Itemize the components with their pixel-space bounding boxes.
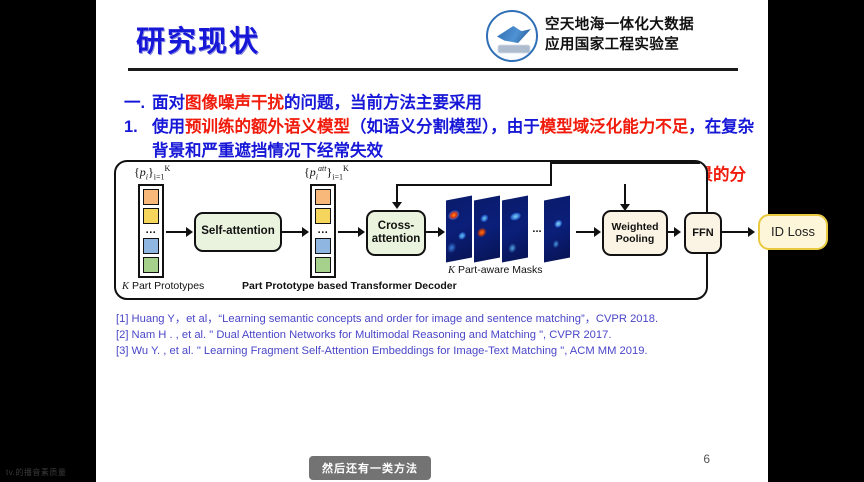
reference-list: [1] Huang Y，et al，“Learning semantic con… xyxy=(116,312,756,360)
bullet-run: 使用 xyxy=(152,118,185,136)
edge-feedback-to-crossattention xyxy=(396,184,552,186)
part-prototype-stack: ... xyxy=(138,184,164,278)
prototypes-caption-text: Part Prototypes xyxy=(132,280,204,292)
bullet-marker: 1. xyxy=(118,116,152,139)
mask-heatmap xyxy=(474,195,500,262)
bullet-run-emphasis: 预训练的额外语义模型 xyxy=(185,118,350,136)
screen-root: 研究现状 空天地海一体化大数据 应用国家工程实验室 一. 面对图像噪声干扰的问题… xyxy=(0,0,864,482)
prototype-chip-green xyxy=(315,257,331,273)
prototypes-caption: K Part Prototypes xyxy=(122,280,204,292)
masks-caption: K Part-aware Masks xyxy=(448,264,543,276)
node-self-attention-label: Self-attention xyxy=(201,225,274,238)
masks-caption-k: K xyxy=(448,265,455,276)
arrowhead xyxy=(674,227,681,237)
decoder-caption: Part Prototype based Transformer Decoder xyxy=(242,280,457,292)
reference-item: [1] Huang Y，et al，“Learning semantic con… xyxy=(116,312,756,328)
edge-attendedset-to-crossattention xyxy=(338,231,360,233)
arrowhead xyxy=(594,227,601,237)
mask-heatmap xyxy=(446,195,472,262)
institute-logo-line1: 空天地海一体化大数据 xyxy=(545,16,694,36)
bullet-run-emphasis: 模型域泛化能力不足 xyxy=(540,118,689,136)
bullet-text: 面对图像噪声干扰的问题，当前方法主要采用 xyxy=(152,92,758,115)
edge-feedback-source xyxy=(550,162,552,186)
page-number: 6 xyxy=(703,452,710,466)
prototype-chip-orange xyxy=(143,189,159,205)
node-ffn[interactable]: FFN xyxy=(684,212,722,254)
node-weighted-pooling[interactable]: Weighted Pooling xyxy=(602,210,668,256)
bullet-run-emphasis: 图像噪声干扰 xyxy=(185,94,284,112)
edge-rail-to-pooling xyxy=(624,184,626,206)
attended-prototype-set-label: {piatt}i=1K xyxy=(304,164,349,181)
edge-masks-to-pooling xyxy=(576,231,596,233)
edge-prototypes-to-selfattention xyxy=(166,231,188,233)
institute-logo-text: 空天地海一体化大数据 应用国家工程实验室 xyxy=(545,16,694,55)
node-id-loss-label: ID Loss xyxy=(771,225,815,240)
arrowhead xyxy=(438,227,445,237)
architecture-diagram: {pi}i=1K ... Self-attention {pi xyxy=(114,152,742,304)
edge-feedback-top-rail xyxy=(550,162,700,164)
prototype-ellipsis: ... xyxy=(146,227,157,235)
presentation-slide: 研究现状 空天地海一体化大数据 应用国家工程实验室 一. 面对图像噪声干扰的问题… xyxy=(96,0,768,482)
node-cross-attention-label-line1: Cross- xyxy=(378,220,414,233)
prototype-chip-orange xyxy=(315,189,331,205)
node-weighted-pooling-label-line1: Weighted xyxy=(611,221,658,233)
bullet-item: 一. 面对图像噪声干扰的问题，当前方法主要采用 xyxy=(118,92,758,115)
arrowhead xyxy=(186,227,193,237)
bullet-run: 的问题，当前方法主要采用 xyxy=(284,94,482,112)
node-weighted-pooling-label-line2: Pooling xyxy=(616,233,655,245)
watermark-label: tv.的播音素质量 xyxy=(6,467,66,478)
arrowhead xyxy=(358,227,365,237)
masks-caption-text: Part-aware Masks xyxy=(458,264,543,276)
arrowhead xyxy=(392,202,402,209)
attended-prototype-stack: ... xyxy=(310,184,336,278)
arrowhead xyxy=(302,227,309,237)
input-prototype-set-label: {pi}i=1K xyxy=(134,164,170,181)
edge-feedback-down xyxy=(396,184,398,204)
prototype-chip-yellow xyxy=(315,208,331,224)
bullet-run: 面对 xyxy=(152,94,185,112)
title-divider xyxy=(128,68,738,71)
part-aware-masks: ... xyxy=(446,198,572,260)
prototype-chip-blue xyxy=(143,238,159,254)
bullet-marker: 一. xyxy=(118,92,152,115)
prototype-ellipsis: ... xyxy=(318,227,329,235)
prototype-chip-blue xyxy=(315,238,331,254)
node-cross-attention[interactable]: Cross- attention xyxy=(366,210,426,256)
reference-item: [3] Wu Y. , et al. " Learning Fragment S… xyxy=(116,344,756,360)
node-cross-attention-label-line2: attention xyxy=(372,233,421,246)
page-title: 研究现状 xyxy=(136,18,260,60)
mask-heatmap xyxy=(544,195,570,262)
bullet-run: （如语义分割模型），由于 xyxy=(350,118,540,136)
node-self-attention[interactable]: Self-attention xyxy=(194,212,282,252)
institute-logo: 空天地海一体化大数据 应用国家工程实验室 xyxy=(486,10,694,62)
node-ffn-label: FFN xyxy=(692,227,713,240)
prototype-chip-green xyxy=(143,257,159,273)
mask-ellipsis: ... xyxy=(530,227,544,231)
mask-heatmap xyxy=(502,195,528,262)
reference-item: [2] Nam H . , et al. " Dual Attention Ne… xyxy=(116,328,756,344)
prototype-chip-yellow xyxy=(143,208,159,224)
edge-selfattention-to-attendedset xyxy=(282,231,304,233)
arrowhead xyxy=(748,227,755,237)
subtitle-caption: 然后还有一类方法 xyxy=(309,456,431,480)
institute-logo-line2: 应用国家工程实验室 xyxy=(545,36,694,56)
institute-emblem-icon xyxy=(486,10,538,62)
prototypes-caption-k: K xyxy=(122,281,129,292)
node-id-loss[interactable]: ID Loss xyxy=(758,214,828,250)
